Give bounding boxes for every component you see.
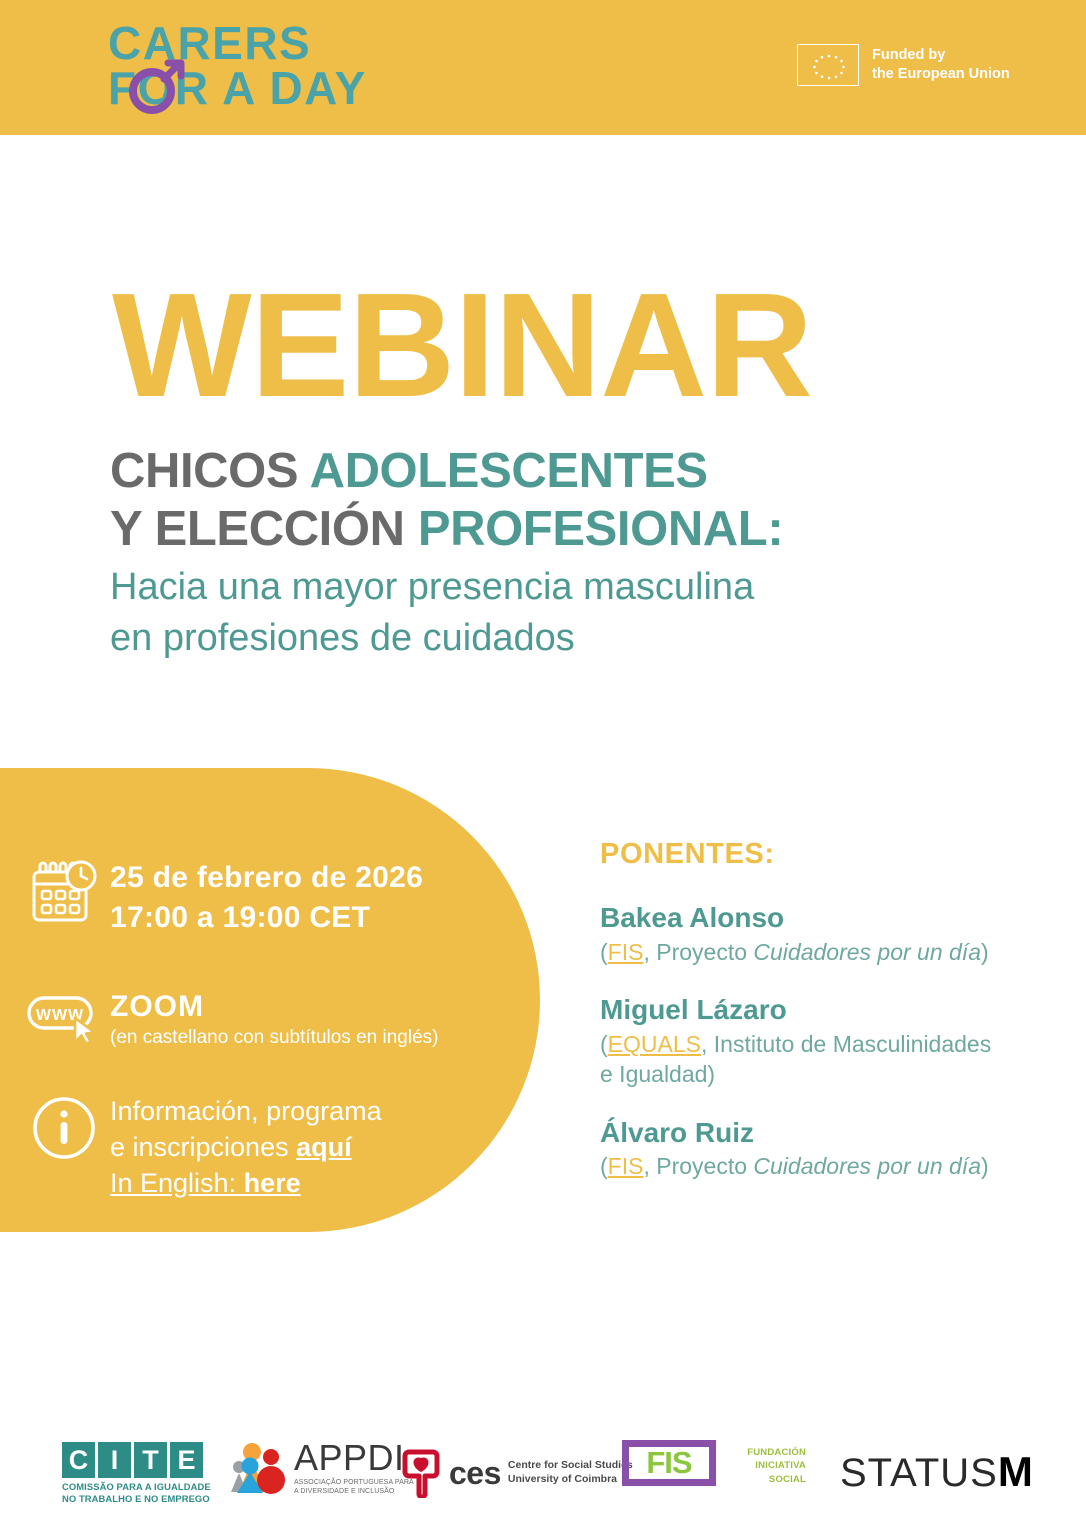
info-circle-icon (18, 1094, 110, 1162)
speaker-affiliation: (FIS, Proyecto Cuidadores por un día) (600, 938, 1040, 968)
aff-open: ( (600, 939, 608, 965)
speakers-section: PONENTES: Bakea Alonso (FIS, Proyecto Cu… (600, 838, 1040, 1208)
speaker-affiliation: (FIS, Proyecto Cuidadores por un día) (600, 1152, 1040, 1182)
ces-name: ces (449, 1455, 501, 1492)
speaker-item: Bakea Alonso (FIS, Proyecto Cuidadores p… (600, 901, 1040, 967)
speaker-name: Álvaro Ruiz (600, 1116, 1040, 1150)
registration-line-2-text: e inscripciones (110, 1132, 296, 1162)
eu-funding-badge: Funded by the European Union (797, 44, 1010, 86)
event-subtitle: Hacia una mayor presencia masculina en p… (110, 562, 754, 663)
eu-text-line-2: the European Union (872, 65, 1010, 84)
aff-close: e Igualdad) (600, 1061, 715, 1087)
fis-mark: FIS (622, 1440, 716, 1486)
title-line1-gray: CHICOS (110, 444, 310, 498)
subtitle-line-1: Hacia una mayor presencia masculina (110, 562, 754, 613)
fis-subtitle-line-3: SOCIAL (726, 1473, 806, 1486)
ces-mark-icon (402, 1448, 442, 1498)
registration-text: Información, programa e inscripciones aq… (110, 1094, 382, 1202)
speaker-name: Miguel Lázaro (600, 993, 1040, 1027)
webinar-heading: WEBINAR (112, 272, 812, 420)
platform-text: ZOOM (en castellano con subtítulos en in… (110, 990, 438, 1050)
appdi-subtitle: ASSOCIAÇÃO PORTUGUESA PARA A DIVERSIDADE… (294, 1478, 414, 1496)
aff-close: ) (981, 939, 989, 965)
registration-line-3-text: In English: (110, 1168, 244, 1198)
brand-line-2: FOR A DAY (108, 67, 367, 109)
subtitle-line-2: en profesiones de cuidados (110, 613, 754, 664)
brand-line-2-text: FOR A DAY (108, 62, 367, 114)
info-panel: 25 de febrero de 2026 17:00 a 19:00 CET … (0, 768, 540, 1232)
event-title-line-1: CHICOS ADOLESCENTES (110, 442, 783, 500)
fis-subtitle-line-2: INICIATIVA (726, 1459, 806, 1472)
platform-title: ZOOM (110, 990, 438, 1024)
date-row: 25 de febrero de 2026 17:00 a 19:00 CET (18, 858, 423, 937)
fis-subtitle: FUNDACIÓN INICIATIVA SOCIAL (726, 1446, 806, 1486)
logo-fis: FIS FUNDACIÓN INICIATIVA SOCIAL (622, 1440, 716, 1486)
statusm-thin: STATUS (840, 1451, 998, 1496)
appdi-name: APPDI (294, 1440, 414, 1476)
appdi-figures-icon (228, 1440, 290, 1496)
statusm-bold: M (998, 1448, 1033, 1496)
aff-mid: , Instituto de Masculinidades (701, 1031, 991, 1057)
logo-cite: C I T E COMISSÃO PARA A IGUALDADE NO TRA… (62, 1442, 211, 1504)
speakers-heading: PONENTES: (600, 838, 1040, 871)
cite-letter: E (170, 1442, 203, 1478)
calendar-clock-icon (18, 858, 110, 926)
ces-subtitle: Centre for Social Studies University of … (508, 1459, 633, 1487)
aff-project: Cuidadores por un día (753, 1153, 981, 1179)
affiliation-link[interactable]: FIS (608, 1153, 644, 1179)
registration-row: Información, programa e inscripciones aq… (18, 1094, 382, 1202)
eu-flag-icon (797, 44, 859, 86)
registration-line-2: e inscripciones aquí (110, 1130, 382, 1166)
cite-subtitle-line-2: NO TRABALHO E NO EMPREGO (62, 1493, 211, 1505)
speaker-item: Miguel Lázaro (EQUALS, Instituto de Masc… (600, 993, 1040, 1089)
cite-letter: C (62, 1442, 95, 1478)
date-line-2: 17:00 a 19:00 CET (110, 898, 423, 938)
fis-subtitle-line-1: FUNDACIÓN (726, 1446, 806, 1459)
date-line-1: 25 de febrero de 2026 (110, 858, 423, 898)
platform-row: WWW ZOOM (en castellano con subtítulos e… (18, 990, 438, 1050)
header-band: CARERS FOR A DAY (0, 0, 1086, 135)
speaker-affiliation: (EQUALS, Instituto de Masculinidadese Ig… (600, 1030, 1040, 1090)
event-title-line-2: Y ELECCIÓN PROFESIONAL: (110, 500, 783, 558)
affiliation-link[interactable]: FIS (608, 939, 644, 965)
title-line1-teal: ADOLESCENTES (310, 444, 708, 498)
aff-open: ( (600, 1031, 608, 1057)
speaker-name: Bakea Alonso (600, 901, 1040, 935)
www-cursor-icon: WWW (18, 990, 110, 1046)
title-line2-teal: PROFESIONAL: (418, 502, 783, 556)
logo-statusm: STATUSM (840, 1448, 1033, 1496)
registration-line-1: Información, programa (110, 1094, 382, 1130)
ces-subtitle-line-1: Centre for Social Studies (508, 1459, 633, 1473)
date-text: 25 de febrero de 2026 17:00 a 19:00 CET (110, 858, 423, 937)
aff-close: ) (981, 1153, 989, 1179)
cite-letter: T (134, 1442, 167, 1478)
logo-appdi: APPDI ASSOCIAÇÃO PORTUGUESA PARA A DIVER… (228, 1440, 414, 1496)
aff-mid: , Proyecto (643, 1153, 753, 1179)
eu-funding-text: Funded by the European Union (872, 46, 1010, 83)
title-line2-gray: Y ELECCIÓN (110, 502, 418, 556)
cite-letter: I (98, 1442, 131, 1478)
footer-logos: C I T E COMISSÃO PARA A IGUALDADE NO TRA… (0, 1432, 1086, 1536)
ces-subtitle-line-2: University of Coimbra (508, 1473, 633, 1487)
appdi-text: APPDI ASSOCIAÇÃO PORTUGUESA PARA A DIVER… (294, 1440, 414, 1496)
registration-link-here[interactable]: here (244, 1168, 301, 1198)
brand-logo: CARERS FOR A DAY (108, 22, 367, 110)
eu-text-line-1: Funded by (872, 46, 1010, 65)
cite-letter-boxes: C I T E (62, 1442, 211, 1478)
appdi-subtitle-line-2: A DIVERSIDADE E INCLUSÃO (294, 1487, 414, 1496)
affiliation-link[interactable]: EQUALS (608, 1031, 701, 1057)
cite-subtitle: COMISSÃO PARA A IGUALDADE NO TRABALHO E … (62, 1481, 211, 1504)
registration-link-aqui[interactable]: aquí (296, 1132, 352, 1162)
appdi-subtitle-line-1: ASSOCIAÇÃO PORTUGUESA PARA (294, 1478, 414, 1487)
speaker-item: Álvaro Ruiz (FIS, Proyecto Cuidadores po… (600, 1116, 1040, 1182)
aff-mid: , Proyecto (643, 939, 753, 965)
cite-subtitle-line-1: COMISSÃO PARA A IGUALDADE (62, 1481, 211, 1493)
platform-note: (en castellano con subtítulos en inglés) (110, 1026, 438, 1051)
aff-open: ( (600, 1153, 608, 1179)
event-title: CHICOS ADOLESCENTES Y ELECCIÓN PROFESION… (110, 442, 783, 559)
registration-line-3: In English: here (110, 1166, 382, 1202)
logo-ces: ces Centre for Social Studies University… (402, 1448, 633, 1498)
brand-line-1: CARERS (108, 22, 367, 64)
aff-project: Cuidadores por un día (753, 939, 981, 965)
